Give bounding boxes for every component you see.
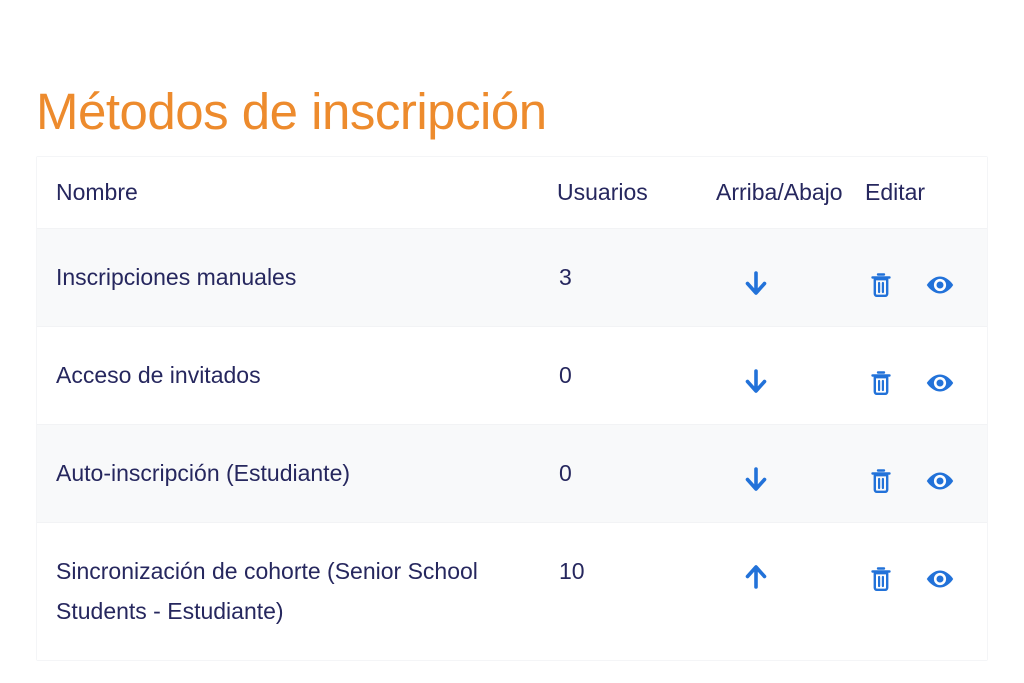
edit-cell bbox=[860, 425, 987, 523]
enrolment-methods-page: Métodos de inscripción Nombre Usuarios A… bbox=[0, 0, 1024, 683]
order-cell bbox=[712, 425, 860, 523]
arrow-down-icon[interactable] bbox=[743, 369, 769, 397]
column-header-arriba-abajo: Arriba/Abajo bbox=[712, 157, 860, 229]
page-title: Métodos de inscripción bbox=[36, 81, 547, 143]
enrolment-methods-table-container: Nombre Usuarios Arriba/Abajo Editar Insc… bbox=[36, 156, 988, 661]
eye-icon[interactable] bbox=[925, 372, 955, 394]
enrolment-method-users: 10 bbox=[557, 523, 712, 661]
table-header: Nombre Usuarios Arriba/Abajo Editar bbox=[37, 157, 987, 229]
column-header-usuarios: Usuarios bbox=[557, 157, 712, 229]
enrolment-methods-table: Nombre Usuarios Arriba/Abajo Editar Insc… bbox=[37, 157, 987, 660]
edit-cell bbox=[860, 523, 987, 661]
table-row: Inscripciones manuales 3 bbox=[37, 229, 987, 327]
trash-icon[interactable] bbox=[870, 272, 892, 298]
arrow-up-icon[interactable] bbox=[743, 565, 769, 593]
eye-icon[interactable] bbox=[925, 470, 955, 492]
arrow-down-icon[interactable] bbox=[743, 467, 769, 495]
edit-cell bbox=[860, 229, 987, 327]
table-body: Inscripciones manuales 3 bbox=[37, 229, 987, 661]
enrolment-method-name: Inscripciones manuales bbox=[37, 229, 557, 327]
order-cell bbox=[712, 327, 860, 425]
trash-icon[interactable] bbox=[870, 566, 892, 592]
column-header-nombre: Nombre bbox=[37, 157, 557, 229]
enrolment-method-name: Sincronización de cohorte (Senior School… bbox=[37, 523, 557, 661]
table-row: Acceso de invitados 0 bbox=[37, 327, 987, 425]
table-row: Auto-inscripción (Estudiante) 0 bbox=[37, 425, 987, 523]
order-cell bbox=[712, 523, 860, 661]
column-header-editar: Editar bbox=[860, 157, 987, 229]
edit-cell bbox=[860, 327, 987, 425]
order-cell bbox=[712, 229, 860, 327]
eye-icon[interactable] bbox=[925, 274, 955, 296]
enrolment-method-users: 3 bbox=[557, 229, 712, 327]
enrolment-method-name: Acceso de invitados bbox=[37, 327, 557, 425]
table-row: Sincronización de cohorte (Senior School… bbox=[37, 523, 987, 661]
table-header-row: Nombre Usuarios Arriba/Abajo Editar bbox=[37, 157, 987, 229]
trash-icon[interactable] bbox=[870, 468, 892, 494]
trash-icon[interactable] bbox=[870, 370, 892, 396]
arrow-down-icon[interactable] bbox=[743, 271, 769, 299]
enrolment-method-users: 0 bbox=[557, 327, 712, 425]
enrolment-method-name: Auto-inscripción (Estudiante) bbox=[37, 425, 557, 523]
enrolment-method-users: 0 bbox=[557, 425, 712, 523]
eye-icon[interactable] bbox=[925, 568, 955, 590]
